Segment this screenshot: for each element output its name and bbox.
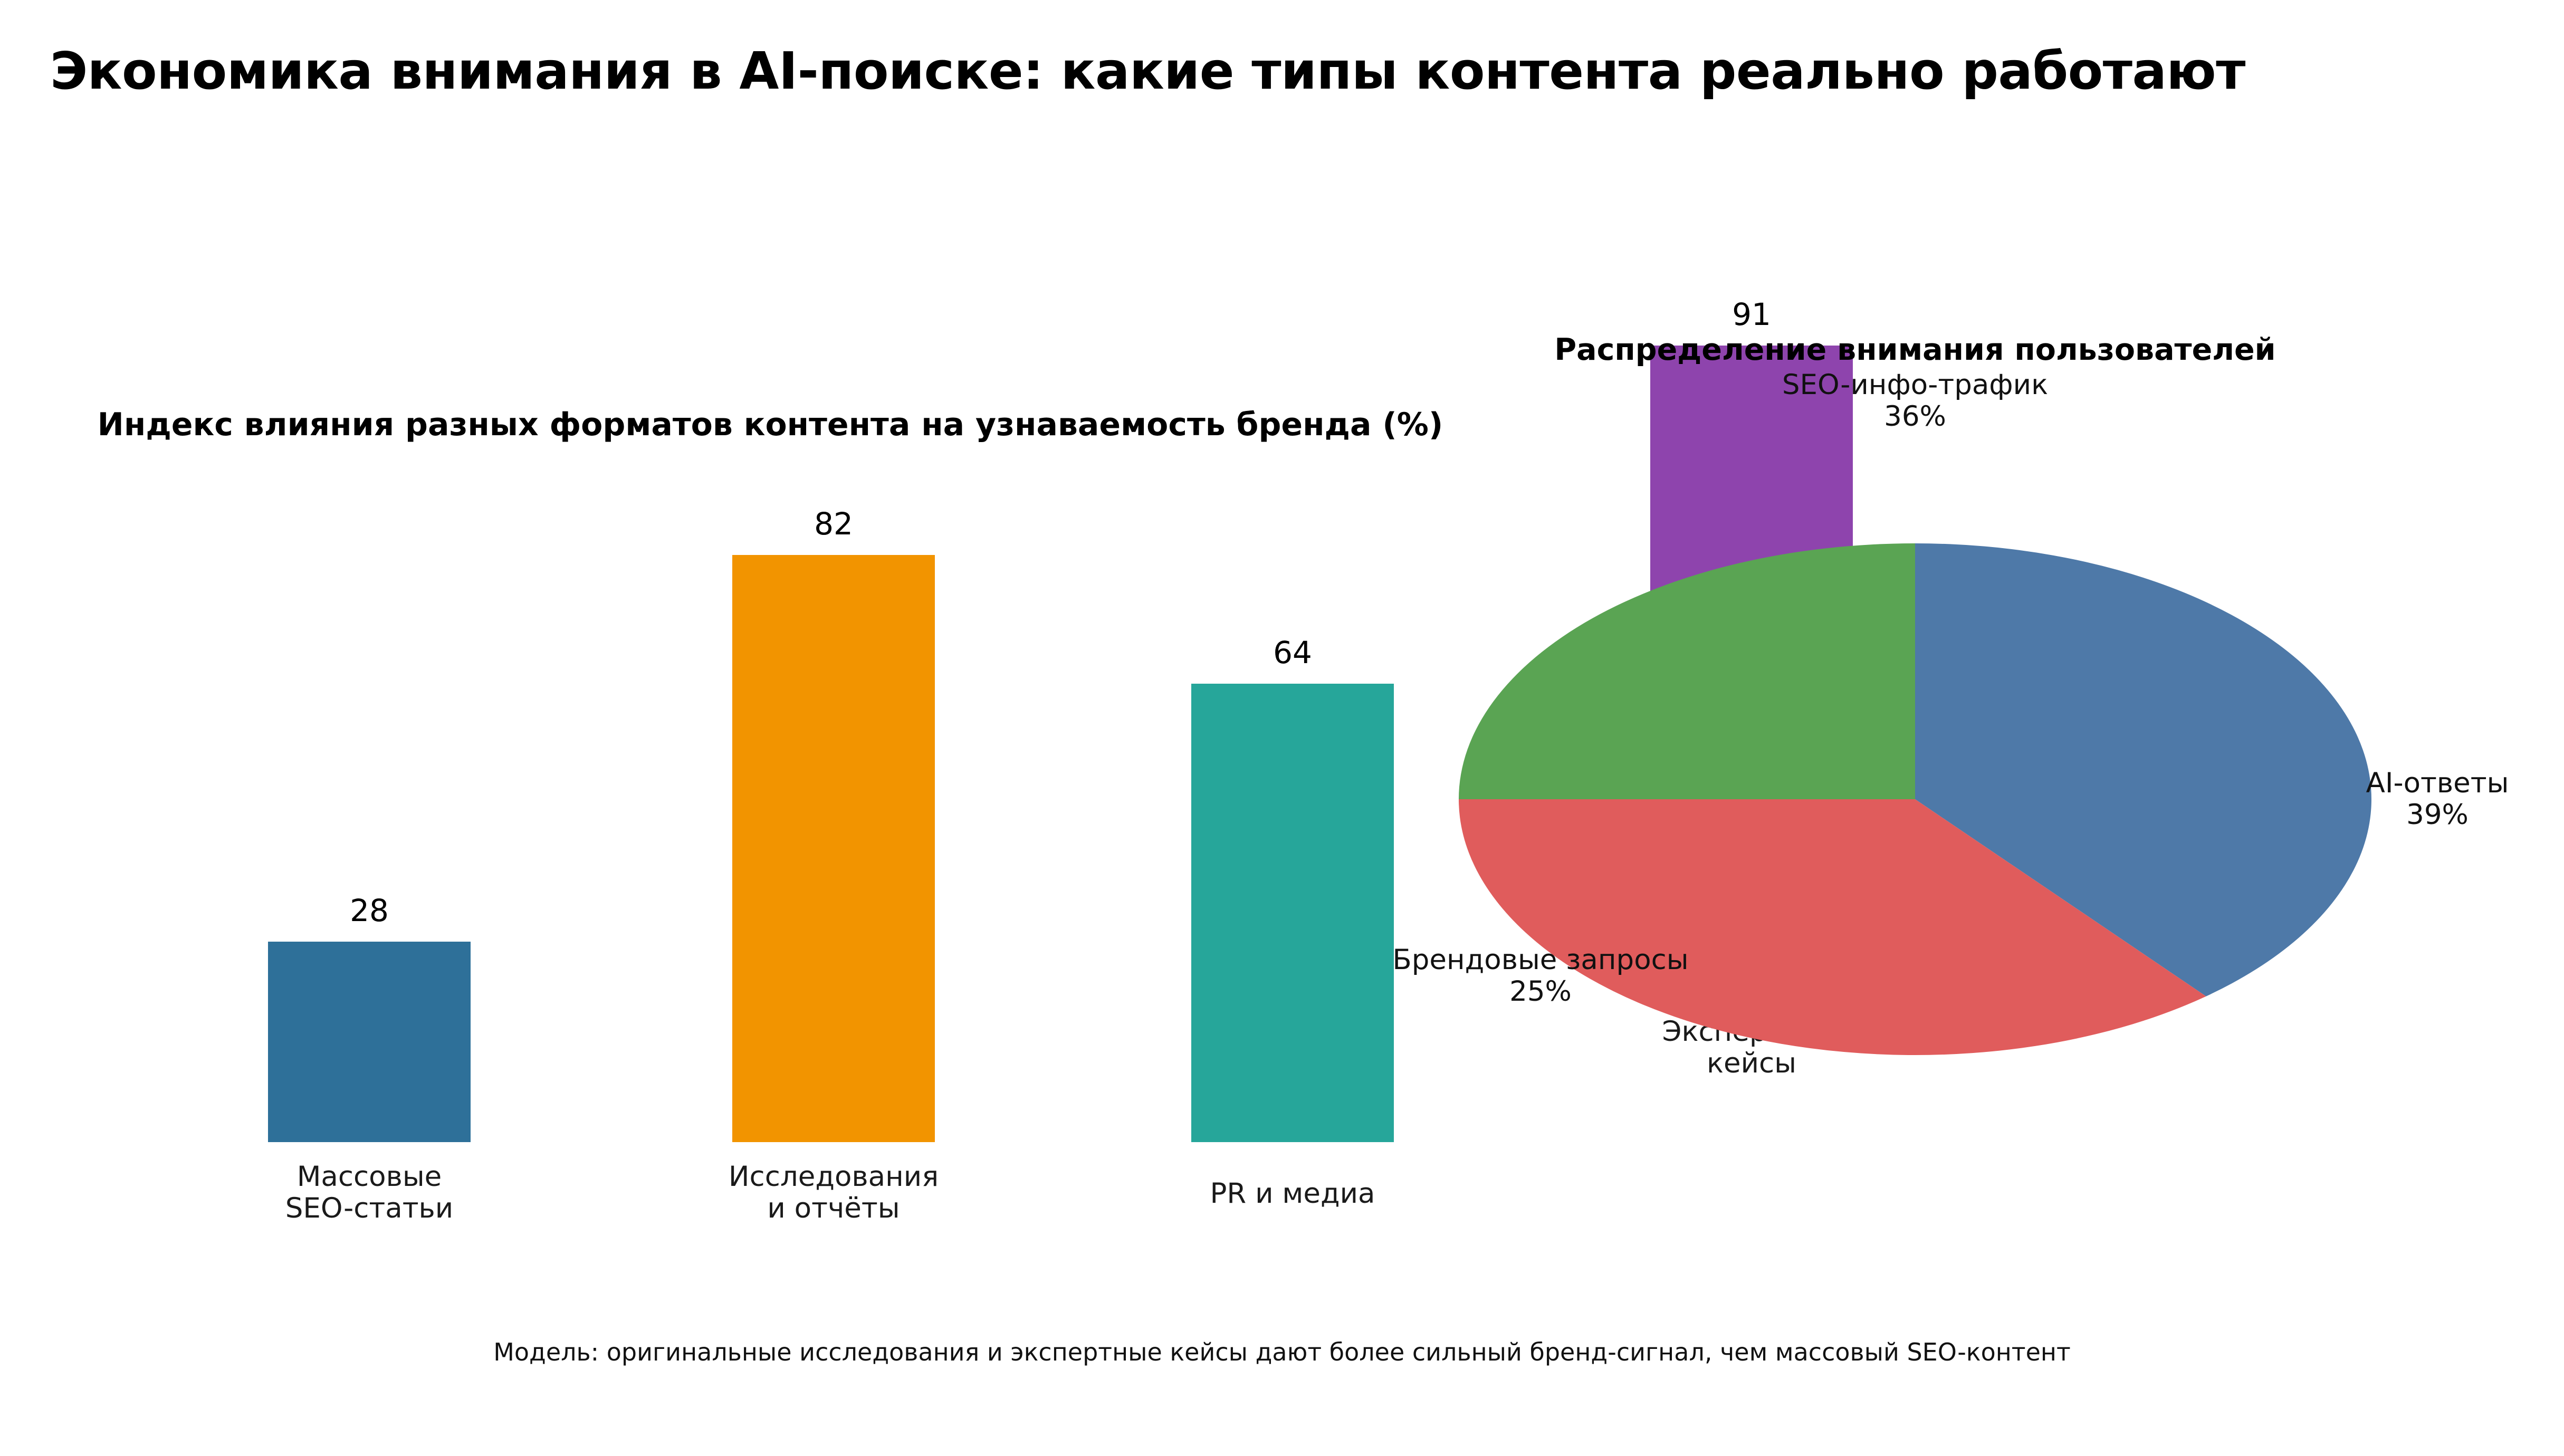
footer-note: Модель: оригинальные исследования и эксп… [0,1338,2564,1366]
bar-chart-panel: Индекс влияния разных форматов контента … [0,0,1530,1372]
bar-rect-2[interactable] [732,555,935,1142]
pie-label-ai-otvety: AI-ответы 39% [2327,768,2548,831]
pie-slice-seo-info-trafik[interactable] [1459,543,1915,799]
pie-chart-panel: Распределение внимания пользователей SEO… [1372,0,2564,1161]
bar-rect-1[interactable] [268,942,471,1142]
bar-rect-3[interactable] [1191,684,1394,1142]
pie-label-brandovye-zaprosy: Брендовые запросы 25% [1377,944,1704,1008]
bar-category-label-1: Массовые SEO-статьи [147,1161,592,1224]
bar-group-3: 64 PR и медиа [1191,145,1394,1372]
bar-group-1: 28 Массовые SEO-статьи [268,145,471,1372]
bar-group-2: 82 Исследования и отчёты [732,145,935,1372]
bar-category-label-2: Исследования и отчёты [611,1161,1056,1224]
bar-value-2: 82 [674,506,993,542]
pie-label-seo-info-trafik: SEO-инфо-трафик 36% [1694,369,2137,433]
bar-category-label-3: PR и медиа [1070,1178,1515,1209]
bar-value-1: 28 [210,893,529,928]
